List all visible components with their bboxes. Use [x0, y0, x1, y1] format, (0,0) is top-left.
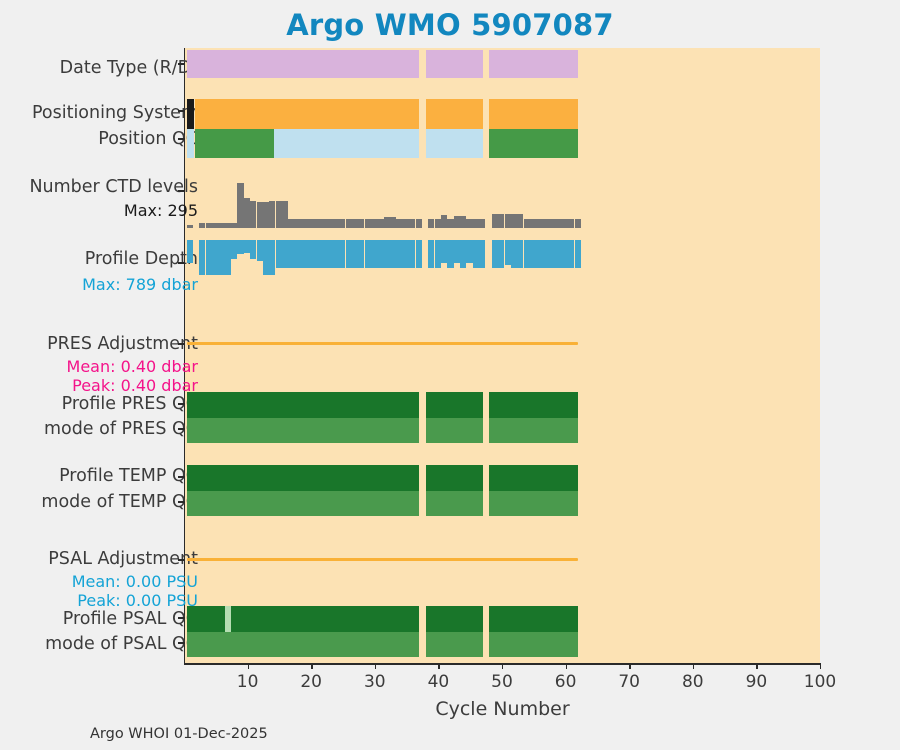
bar — [466, 219, 472, 228]
bar — [460, 216, 466, 228]
row-label-pres-adjustment: PRES Adjustment — [47, 336, 198, 354]
band-segment — [187, 465, 420, 491]
band-segment — [426, 491, 483, 516]
row-label-profile-pres-qc: Profile PRES QC — [62, 396, 198, 414]
bar — [187, 225, 193, 228]
row-band-date-type-r-d — [184, 50, 820, 78]
bar — [288, 240, 294, 268]
x-tick — [693, 663, 694, 669]
row-band-profile-depth — [184, 240, 820, 275]
band-segment — [489, 606, 578, 632]
bar — [231, 240, 237, 259]
bar — [409, 240, 415, 268]
bar — [314, 219, 320, 228]
bar — [269, 201, 275, 228]
row-band-mode-of-psal-qc — [184, 632, 820, 657]
bar — [384, 240, 390, 268]
bar — [301, 219, 307, 228]
bar — [346, 219, 352, 228]
bar — [333, 219, 339, 228]
bar — [492, 240, 498, 268]
row-band-profile-psal-qc — [184, 606, 820, 632]
bar — [403, 240, 409, 268]
bar — [206, 223, 212, 228]
bar — [384, 217, 390, 228]
bar — [390, 240, 396, 268]
band-segment — [426, 418, 483, 443]
bar — [396, 219, 402, 228]
x-tick — [438, 663, 439, 669]
band-segment — [489, 50, 578, 78]
bar — [212, 240, 218, 275]
bar — [199, 240, 205, 275]
bar — [276, 201, 282, 228]
bar — [428, 240, 434, 268]
band-segment — [187, 129, 195, 158]
row-label-number-ctd-levels: Number CTD levels — [29, 179, 198, 197]
bar — [511, 240, 517, 268]
bar — [416, 219, 422, 228]
bar — [562, 240, 568, 268]
bar — [282, 201, 288, 228]
row-label-pres-peak: Peak: 0.40 dbar — [72, 378, 198, 394]
bar — [269, 240, 275, 275]
band-segment — [426, 632, 483, 657]
bar — [524, 240, 530, 268]
bar — [549, 219, 555, 228]
bar — [320, 219, 326, 228]
x-tick-label: 100 — [804, 672, 836, 692]
row-label-psal-adjustment: PSAL Adjustment — [48, 551, 198, 569]
band-segment — [426, 392, 483, 418]
x-tick-label: 70 — [618, 672, 640, 692]
bar — [326, 240, 332, 268]
row-band-position-qc — [184, 129, 820, 158]
x-tick-label: 40 — [428, 672, 450, 692]
band-segment — [187, 50, 420, 78]
x-tick — [820, 663, 821, 669]
bar — [225, 223, 231, 228]
bar — [447, 240, 453, 268]
bar — [568, 219, 574, 228]
x-tick-label: 90 — [746, 672, 768, 692]
bar — [377, 219, 383, 228]
row-band-positioning-system — [184, 99, 820, 129]
row-label-positioning-system: Positioning System — [32, 105, 198, 123]
x-tick — [756, 663, 757, 669]
bar — [479, 240, 485, 268]
band-segment — [195, 129, 274, 158]
bar — [435, 219, 441, 228]
bar — [333, 240, 339, 268]
bar — [212, 223, 218, 228]
bar — [498, 214, 504, 228]
bar — [314, 240, 320, 268]
bar — [435, 240, 441, 268]
adjustment-line-psal — [187, 558, 579, 561]
x-tick — [566, 663, 567, 669]
band-segment — [489, 465, 578, 491]
bar — [543, 240, 549, 268]
band-segment — [231, 606, 419, 632]
x-tick-label: 20 — [300, 672, 322, 692]
bar — [530, 240, 536, 268]
bar — [536, 219, 542, 228]
row-band-profile-pres-qc — [184, 392, 820, 418]
row-band-profile-temp-qc — [184, 465, 820, 491]
bar — [301, 240, 307, 268]
x-tick-label: 50 — [491, 672, 513, 692]
bar — [371, 219, 377, 228]
bar — [339, 240, 345, 268]
bar — [575, 240, 581, 268]
bar — [257, 202, 263, 228]
bar — [505, 214, 511, 228]
bar — [555, 240, 561, 268]
bar — [460, 240, 466, 268]
x-tick — [375, 663, 376, 669]
bar — [295, 219, 301, 228]
bar — [447, 219, 453, 228]
bar — [218, 223, 224, 228]
row-label-profile-psal-qc: Profile PSAL QC — [63, 611, 198, 629]
bar — [288, 219, 294, 228]
band-segment — [187, 606, 225, 632]
row-label-psal-mean: Mean: 0.00 PSU — [72, 574, 198, 590]
row-band-number-ctd-levels — [184, 183, 820, 228]
band-segment — [274, 129, 419, 158]
bar — [505, 240, 511, 265]
band-segment — [187, 491, 420, 516]
band-segment — [489, 392, 578, 418]
adjustment-line-pres — [187, 342, 579, 345]
bar — [555, 219, 561, 228]
bar — [396, 240, 402, 268]
bar — [403, 219, 409, 228]
bar — [187, 240, 193, 263]
band-segment — [187, 392, 420, 418]
x-tick — [248, 663, 249, 669]
bar — [352, 219, 358, 228]
bar — [257, 240, 263, 261]
bar — [524, 219, 530, 228]
x-tick — [502, 663, 503, 669]
band-segment — [489, 99, 578, 129]
bar — [244, 240, 250, 253]
bar — [466, 240, 472, 263]
bar — [409, 219, 415, 228]
band-segment — [489, 129, 578, 158]
band-segment — [426, 50, 483, 78]
bar — [237, 183, 243, 228]
row-label-psal-peak: Peak: 0.00 PSU — [77, 593, 198, 609]
y-tick — [178, 559, 185, 561]
band-segment — [187, 418, 420, 443]
bar — [199, 223, 205, 228]
bar — [244, 198, 250, 229]
bar — [365, 240, 371, 268]
row-band-mode-of-temp-qc — [184, 491, 820, 516]
bar — [390, 217, 396, 228]
band-segment — [187, 99, 195, 129]
bar — [377, 240, 383, 268]
x-tick-label: 80 — [682, 672, 704, 692]
x-axis-title: Cycle Number — [184, 698, 821, 720]
row-label-pres-mean: Mean: 0.40 dbar — [67, 359, 198, 375]
bar — [530, 219, 536, 228]
bar — [307, 219, 313, 228]
x-tick-label: 60 — [555, 672, 577, 692]
band-segment — [426, 99, 483, 129]
row-label-profile-depth: Profile Depth — [85, 251, 198, 269]
bar — [206, 240, 212, 275]
bar — [307, 240, 313, 268]
bar — [365, 219, 371, 228]
row-label-mode-psal-qc: mode of PSAL QC — [45, 636, 198, 654]
bar — [346, 240, 352, 268]
row-label-depth-max: Max: 789 dbar — [82, 277, 198, 293]
bar — [320, 240, 326, 268]
bar — [358, 219, 364, 228]
bar — [492, 214, 498, 228]
band-segment — [489, 632, 578, 657]
bar — [562, 219, 568, 228]
band-segment — [426, 129, 483, 158]
x-tick — [629, 663, 630, 669]
row-band-mode-of-pres-qc — [184, 418, 820, 443]
x-tick-label: 10 — [237, 672, 259, 692]
x-tick-label: 30 — [364, 672, 386, 692]
bar — [295, 240, 301, 268]
footer-credit: Argo WHOI 01-Dec-2025 — [90, 726, 268, 742]
row-label-mode-pres-qc: mode of PRES QC — [44, 421, 198, 439]
bar — [479, 219, 485, 228]
bar — [575, 219, 581, 228]
bar — [250, 201, 256, 228]
bar — [358, 240, 364, 268]
bar — [263, 240, 269, 275]
band-segment — [426, 606, 483, 632]
bar — [225, 240, 231, 275]
bar — [473, 240, 479, 268]
row-label-mode-temp-qc: mode of TEMP QC — [41, 494, 198, 512]
bar — [536, 240, 542, 268]
bar — [218, 240, 224, 275]
band-segment — [489, 418, 578, 443]
x-tick — [311, 663, 312, 669]
bar — [339, 219, 345, 228]
bar — [498, 240, 504, 268]
bar — [428, 219, 434, 228]
bar — [517, 214, 523, 228]
bar — [543, 219, 549, 228]
band-segment — [195, 99, 419, 129]
bar — [276, 240, 282, 268]
bar — [568, 240, 574, 268]
bar — [441, 240, 447, 263]
bar — [237, 240, 243, 254]
band-segment — [489, 491, 578, 516]
bar — [511, 214, 517, 228]
band-segment — [426, 465, 483, 491]
bar — [231, 223, 237, 228]
bar — [250, 240, 256, 259]
bar — [454, 216, 460, 229]
bar — [441, 215, 447, 228]
bar — [326, 219, 332, 228]
page-title: Argo WMO 5907087 — [0, 8, 900, 42]
band-segment — [187, 632, 420, 657]
bar — [263, 202, 269, 228]
y-tick — [178, 343, 185, 345]
bar — [282, 240, 288, 268]
bar — [473, 219, 479, 228]
bar — [371, 240, 377, 268]
bar — [517, 240, 523, 268]
bar — [549, 240, 555, 268]
bar — [454, 240, 460, 263]
bar — [352, 240, 358, 268]
bar — [416, 240, 422, 268]
